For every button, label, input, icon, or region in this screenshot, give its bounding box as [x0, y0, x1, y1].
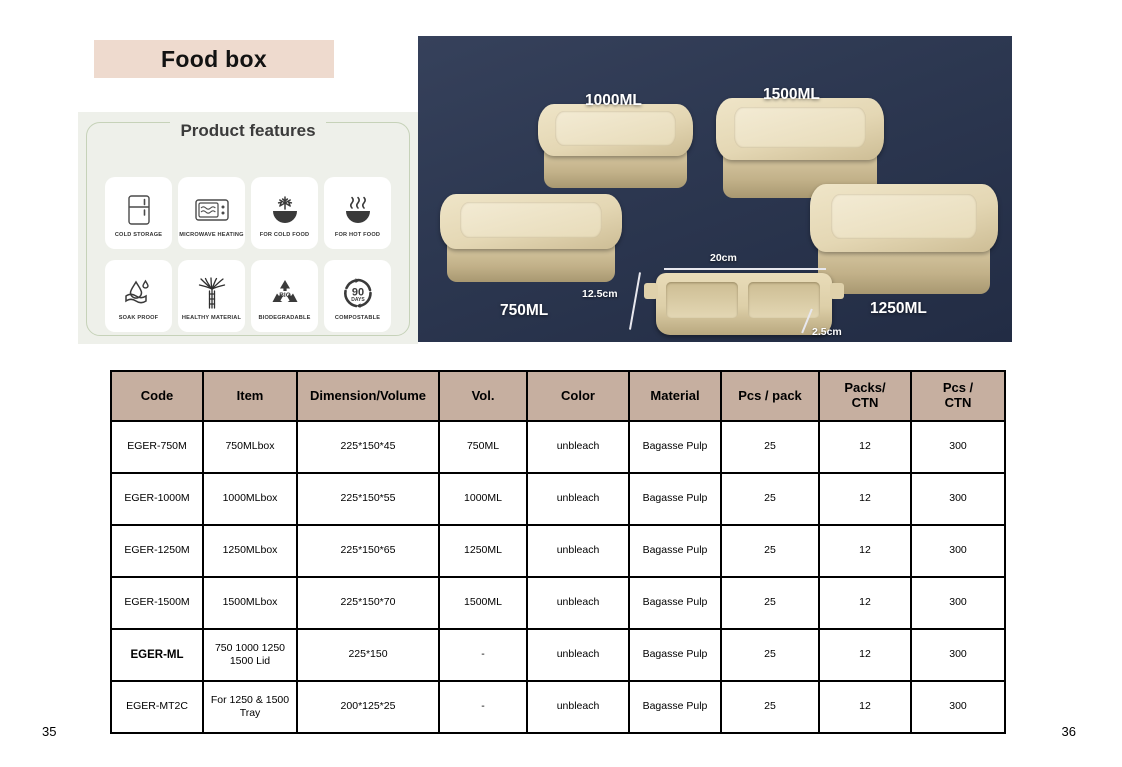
feature-card-biodegradable: BIO BIODEGRADABLE	[251, 260, 318, 332]
container-lid-inner	[734, 107, 865, 148]
cell-code: EGER-1000M	[111, 473, 203, 525]
cell-material: Bagasse Pulp	[629, 525, 721, 577]
cell-item-line1: For 1250 & 1500	[205, 694, 295, 707]
feature-card-cold-storage: COLD STORAGE	[105, 177, 172, 249]
photo-label-1000ml: 1000ML	[585, 92, 642, 110]
cell-packs-ctn: 12	[819, 577, 911, 629]
cell-pcs-ctn: 300	[911, 473, 1005, 525]
cell-code: EGER-1500M	[111, 577, 203, 629]
table-row: EGER-1500M 1500MLbox 225*150*70 1500ML u…	[111, 577, 1005, 629]
table-header-packs-ctn: Packs/ CTN	[819, 371, 911, 421]
table-header-packs-ctn-line1: Packs/	[821, 381, 909, 396]
cell-item: 750MLbox	[203, 421, 297, 473]
cell-code: EGER-MT2C	[111, 681, 203, 733]
dimension-line-width	[664, 268, 826, 270]
table-header-material: Material	[629, 371, 721, 421]
cell-dimension: 225*150*45	[297, 421, 439, 473]
page-number-left: 35	[42, 724, 56, 739]
container-lid	[538, 104, 693, 156]
cell-pcs-ctn: 300	[911, 421, 1005, 473]
cell-pcs-ctn: 300	[911, 681, 1005, 733]
feature-label: HEALTHY MATERIAL	[182, 315, 241, 321]
feature-label: SOAK PROOF	[119, 315, 159, 321]
cell-color: unbleach	[527, 681, 629, 733]
feature-label: COLD STORAGE	[115, 232, 162, 238]
feature-label: FOR COLD FOOD	[260, 232, 310, 238]
cell-color: unbleach	[527, 421, 629, 473]
cell-packs-ctn: 12	[819, 525, 911, 577]
cell-color: unbleach	[527, 473, 629, 525]
cell-color: unbleach	[527, 577, 629, 629]
photo-label-750ml: 750ML	[500, 302, 548, 320]
product-features-panel: Product features COLD STORAGE	[78, 112, 418, 344]
cell-code: EGER-1250M	[111, 525, 203, 577]
container-1500ml	[716, 98, 884, 198]
dimension-label-depth: 12.5cm	[582, 288, 618, 300]
feature-row-top: COLD STORAGE MICROWAVE HEATING	[105, 177, 391, 249]
svg-text:BIO: BIO	[279, 292, 291, 299]
feature-label: BIODEGRADABLE	[258, 315, 310, 321]
photo-label-1250ml: 1250ML	[870, 300, 927, 318]
cell-pcs-pack: 25	[721, 525, 819, 577]
cell-code: EGER-ML	[111, 629, 203, 681]
cell-item: 1500MLbox	[203, 577, 297, 629]
product-photo: 1000ML 1500ML 750ML 1250ML 20cm 12.5cm 2…	[418, 36, 1012, 342]
feature-card-microwave-heating: MICROWAVE HEATING	[178, 177, 245, 249]
container-lid-inner	[555, 111, 676, 145]
cell-item: 1000MLbox	[203, 473, 297, 525]
tray-handle-left	[644, 283, 658, 299]
product-features-heading-text: Product features	[170, 121, 325, 140]
feature-card-for-cold-food: FOR COLD FOOD	[251, 177, 318, 249]
tray-handle-right	[830, 283, 844, 299]
cell-pcs-pack: 25	[721, 421, 819, 473]
table-row: EGER-ML 750 1000 12501500 Lid 225*150 - …	[111, 629, 1005, 681]
page-title-banner: Food box	[94, 40, 334, 78]
cell-item-line1: 1000MLbox	[205, 492, 295, 505]
feature-label: MICROWAVE HEATING	[179, 232, 243, 238]
photo-label-1500ml: 1500ML	[763, 86, 820, 104]
cell-packs-ctn: 12	[819, 629, 911, 681]
cell-material: Bagasse Pulp	[629, 629, 721, 681]
cell-vol: -	[439, 681, 527, 733]
feature-card-healthy-material: HEALTHY MATERIAL	[178, 260, 245, 332]
cell-dimension: 225*150*65	[297, 525, 439, 577]
container-750ml	[440, 194, 622, 282]
container-lid-inner	[831, 194, 978, 239]
microwave-icon	[194, 191, 230, 229]
cell-item-line1: 1250MLbox	[205, 544, 295, 557]
table-row: EGER-750M 750MLbox 225*150*45 750ML unbl…	[111, 421, 1005, 473]
cell-color: unbleach	[527, 629, 629, 681]
feature-card-compostable: 90 DAYS COMPOSTABLE	[324, 260, 391, 332]
product-spec-table: Code Item Dimension/Volume Vol. Color Ma…	[110, 370, 1006, 734]
cell-pcs-pack: 25	[721, 473, 819, 525]
cell-dimension: 225*150	[297, 629, 439, 681]
feature-label: COMPOSTABLE	[335, 315, 380, 321]
feature-row-bottom: SOAK PROOF	[105, 260, 391, 332]
feature-card-for-hot-food: FOR HOT FOOD	[324, 177, 391, 249]
table-header-pcs-ctn-line1: Pcs /	[913, 381, 1003, 396]
dimension-label-height: 2.5cm	[812, 326, 842, 338]
cell-material: Bagasse Pulp	[629, 681, 721, 733]
cell-material: Bagasse Pulp	[629, 473, 721, 525]
page-title: Food box	[161, 46, 267, 73]
fridge-icon	[125, 191, 153, 229]
cell-pcs-ctn: 300	[911, 629, 1005, 681]
cell-material: Bagasse Pulp	[629, 577, 721, 629]
cell-item-line2: Tray	[205, 707, 295, 720]
table-header-color: Color	[527, 371, 629, 421]
cell-vol: 1500ML	[439, 577, 527, 629]
container-lid	[716, 98, 884, 160]
table-header-vol: Vol.	[439, 371, 527, 421]
product-features-heading: Product features	[87, 121, 409, 141]
container-lid-inner	[460, 202, 602, 238]
cell-vol: -	[439, 629, 527, 681]
cell-pcs-pack: 25	[721, 577, 819, 629]
table-header-dimension: Dimension/Volume	[297, 371, 439, 421]
cell-packs-ctn: 12	[819, 421, 911, 473]
container-1000ml	[538, 104, 693, 188]
cell-dimension: 225*150*55	[297, 473, 439, 525]
bio-recycle-icon: BIO	[269, 274, 301, 312]
cell-item: For 1250 & 1500Tray	[203, 681, 297, 733]
steam-bowl-icon	[342, 191, 374, 229]
table-header-packs-ctn-line2: CTN	[821, 396, 909, 411]
feature-label: FOR HOT FOOD	[335, 232, 380, 238]
cell-item-line1: 1500MLbox	[205, 596, 295, 609]
svg-text:DAYS: DAYS	[351, 297, 365, 303]
cell-item-line2: 1500 Lid	[205, 655, 295, 668]
cell-vol: 1250ML	[439, 525, 527, 577]
cell-packs-ctn: 12	[819, 473, 911, 525]
cell-material: Bagasse Pulp	[629, 421, 721, 473]
cell-item-line1: 750 1000 1250	[205, 642, 295, 655]
table-header-pcs-pack: Pcs / pack	[721, 371, 819, 421]
water-drop-icon	[122, 274, 156, 312]
dimension-line-depth	[629, 272, 641, 329]
cell-pcs-pack: 25	[721, 629, 819, 681]
cell-dimension: 200*125*25	[297, 681, 439, 733]
dimension-label-width: 20cm	[710, 252, 737, 264]
table-row: EGER-1250M 1250MLbox 225*150*65 1250ML u…	[111, 525, 1005, 577]
table-header-row: Code Item Dimension/Volume Vol. Color Ma…	[111, 371, 1005, 421]
cell-item: 750 1000 12501500 Lid	[203, 629, 297, 681]
cell-pcs-pack: 25	[721, 681, 819, 733]
table-header-code: Code	[111, 371, 203, 421]
tray-compartment-left	[666, 282, 738, 318]
90-days-icon: 90 DAYS	[341, 274, 375, 312]
table-header-pcs-ctn-line2: CTN	[913, 396, 1003, 411]
cell-pcs-ctn: 300	[911, 577, 1005, 629]
sugarcane-plant-icon	[195, 274, 229, 312]
feature-card-soak-proof: SOAK PROOF	[105, 260, 172, 332]
page-number-right: 36	[1062, 724, 1076, 739]
cell-vol: 1000ML	[439, 473, 527, 525]
cell-code: EGER-750M	[111, 421, 203, 473]
table-row: EGER-1000M 1000MLbox 225*150*55 1000ML u…	[111, 473, 1005, 525]
cell-pcs-ctn: 300	[911, 525, 1005, 577]
cell-packs-ctn: 12	[819, 681, 911, 733]
cell-vol: 750ML	[439, 421, 527, 473]
cell-dimension: 225*150*70	[297, 577, 439, 629]
snowflake-bowl-icon	[269, 191, 301, 229]
product-features-frame: Product features COLD STORAGE	[86, 122, 410, 336]
table-row: EGER-MT2C For 1250 & 1500Tray 200*125*25…	[111, 681, 1005, 733]
container-lid	[440, 194, 622, 249]
cell-item: 1250MLbox	[203, 525, 297, 577]
table-header-item: Item	[203, 371, 297, 421]
cell-color: unbleach	[527, 525, 629, 577]
container-lid	[810, 184, 998, 252]
cell-item-line1: 750MLbox	[205, 440, 295, 453]
table-header-pcs-ctn: Pcs / CTN	[911, 371, 1005, 421]
